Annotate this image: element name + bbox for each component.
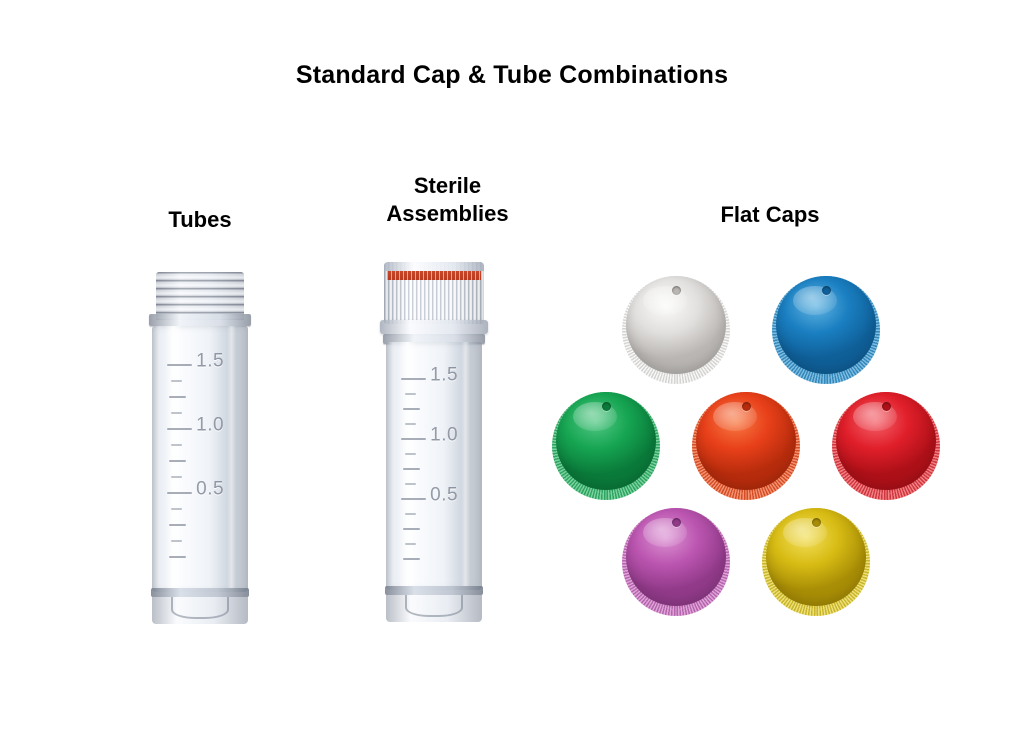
cap-dimple (812, 518, 821, 527)
section-label-flat-caps: Flat Caps (680, 201, 860, 229)
cap-dimple (602, 402, 611, 411)
sterile-screw-cap (384, 262, 484, 324)
flat-cap-blue (772, 276, 880, 384)
tube-base-band (151, 588, 249, 597)
tube-graduation-scale: 1.5 1.0 0.5 (152, 326, 248, 592)
cap-dimple (742, 402, 751, 411)
flat-cap-orange (692, 392, 800, 500)
flat-cap-violet (622, 508, 730, 616)
flat-cap-yellow (762, 508, 870, 616)
tube-body: 1.5 1.0 0.5 (152, 326, 248, 592)
product-image-sterile-assembly: 1.5 1.0 0.5 (386, 262, 482, 624)
tube-highlight-secondary (227, 326, 236, 592)
product-image-tube: 1.5 1.0 0.5 (152, 272, 248, 624)
tube-body: 1.5 1.0 0.5 (386, 342, 482, 590)
tube-conical-bottom (405, 595, 463, 617)
page-title: Standard Cap & Tube Combinations (0, 61, 1024, 90)
flat-cap-red (832, 392, 940, 500)
tube-highlight-secondary (461, 342, 470, 590)
section-label-tubes: Tubes (115, 206, 285, 234)
tube-graduation-label-1-0: 1.0 (430, 424, 458, 446)
tube-base-band (385, 586, 483, 595)
tube-graduation-label-1-5: 1.5 (430, 364, 458, 386)
flat-cap-green (552, 392, 660, 500)
tube-graduation-label-0-5: 0.5 (430, 484, 458, 506)
tube-graduation-label-1-0: 1.0 (196, 414, 224, 436)
cap-dimple (672, 286, 681, 295)
tube-skirt-base (386, 595, 482, 622)
sterile-cap-top (384, 262, 484, 271)
flat-cap-natural (622, 276, 730, 384)
tube-flange (149, 314, 251, 326)
sterile-cap-skirt (380, 320, 488, 334)
tube-graduation-label-1-5: 1.5 (196, 350, 224, 372)
tube-graduation-scale: 1.5 1.0 0.5 (386, 342, 482, 590)
cap-dimple (822, 286, 831, 295)
tube-conical-bottom (171, 597, 229, 619)
cap-dimple (672, 518, 681, 527)
section-label-sterile-assemblies: Sterile Assemblies (360, 172, 535, 227)
cap-dimple (882, 402, 891, 411)
sterile-cap-red-band (387, 271, 481, 280)
tube-highlight (399, 342, 415, 590)
tube-highlight (165, 326, 181, 592)
tube-thread-neck (156, 272, 244, 320)
tube-graduation-label-0-5: 0.5 (196, 478, 224, 500)
tube-skirt-base (152, 597, 248, 624)
